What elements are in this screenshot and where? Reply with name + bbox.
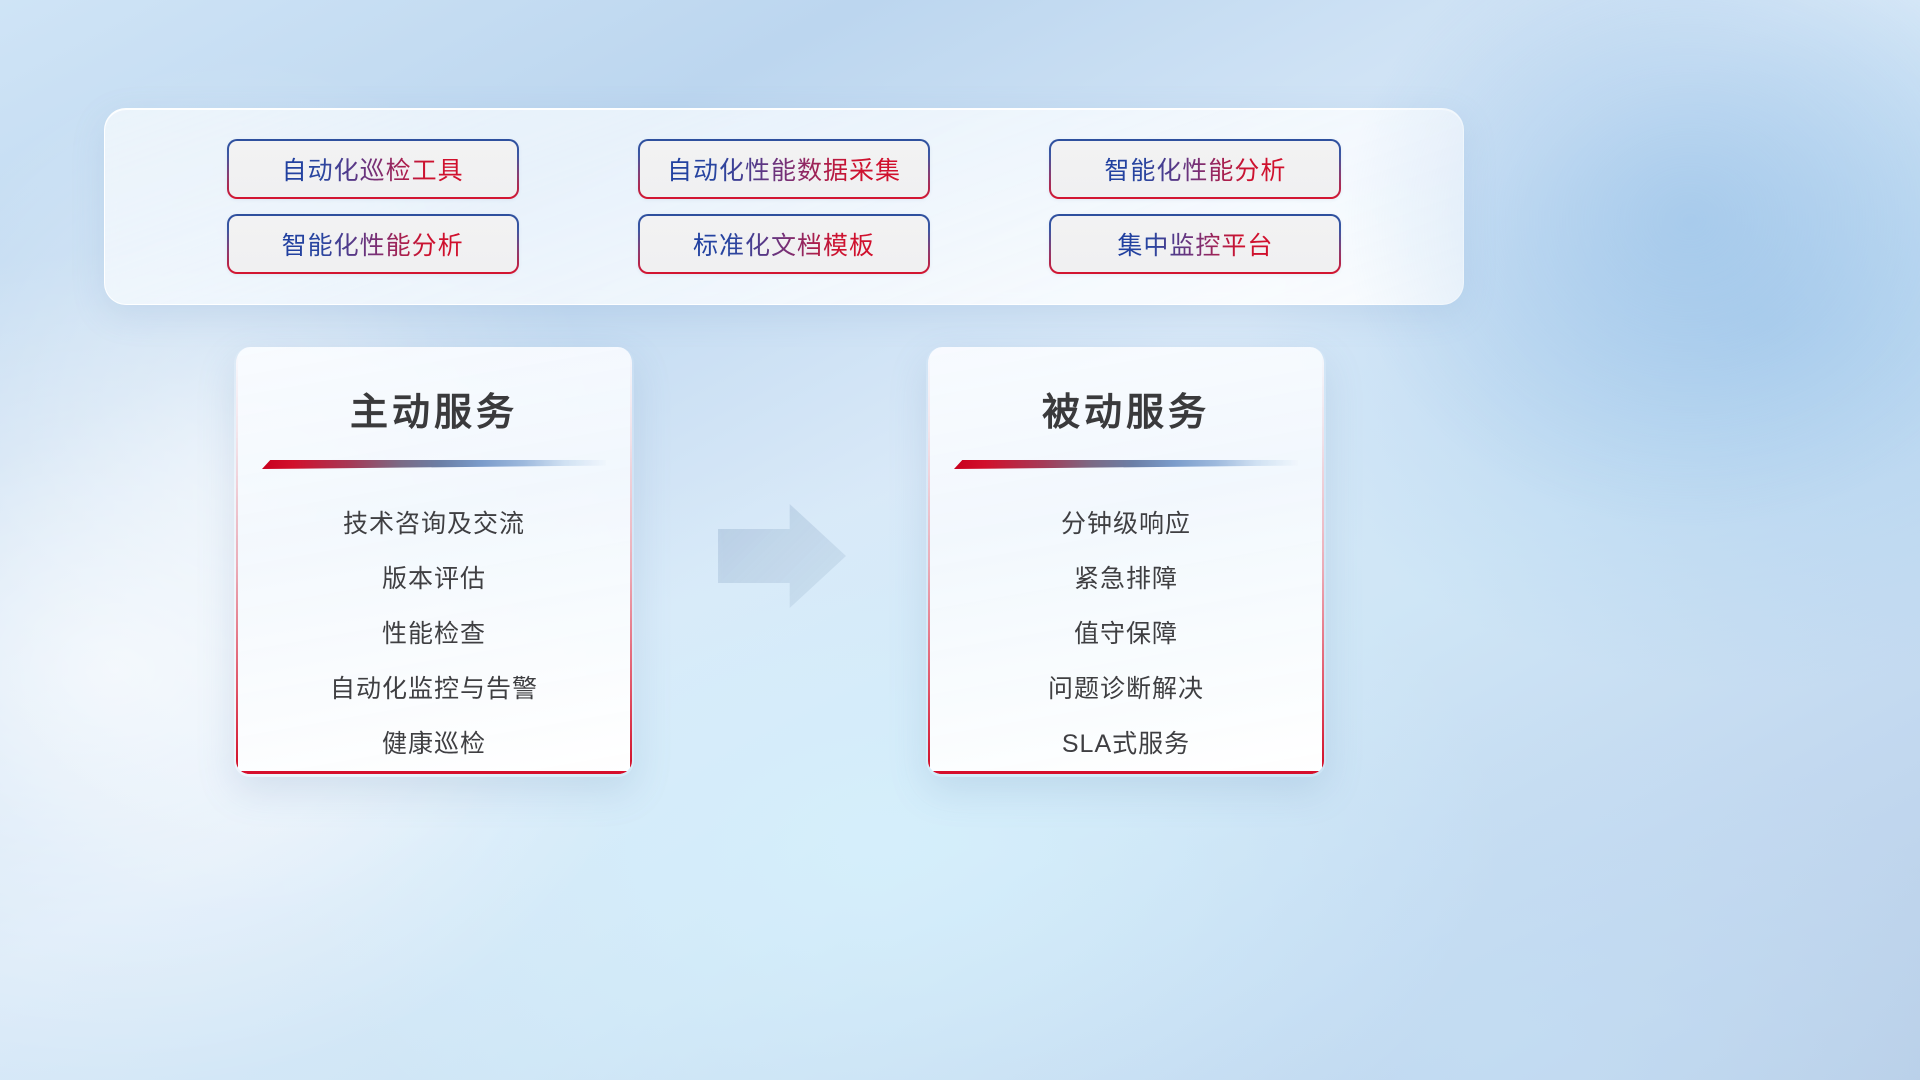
capability-chip-intelligent-performance-analysis-2[interactable]: 智能化性能分析 xyxy=(227,214,519,274)
list-item: 技术咨询及交流 xyxy=(236,497,632,552)
capability-chip-centralized-monitoring-platform[interactable]: 集中监控平台 xyxy=(1049,214,1341,274)
service-card-title: 主动服务 xyxy=(236,381,632,436)
capabilities-panel: 自动化巡检工具 自动化性能数据采集 智能化性能分析 智能化性能分析 标准化文档模… xyxy=(104,108,1464,305)
service-card-reactive[interactable]: 被动服务 分钟级响应 紧急排障 值守保障 问题诊断解决 SLA式服务 xyxy=(926,347,1326,777)
list-item: 紧急排障 xyxy=(928,552,1324,607)
right-arrow-icon xyxy=(718,504,846,608)
capability-chip-label: 标准化文档模板 xyxy=(693,226,875,262)
list-item: 值守保障 xyxy=(928,607,1324,662)
service-card-title: 被动服务 xyxy=(928,381,1324,436)
divider-bar xyxy=(954,460,1298,469)
capability-chip-intelligent-performance-analysis[interactable]: 智能化性能分析 xyxy=(1049,139,1341,199)
list-item: 版本评估 xyxy=(236,552,632,607)
capability-chip-automated-inspection-tool[interactable]: 自动化巡检工具 xyxy=(227,139,519,199)
list-item: 分钟级响应 xyxy=(928,497,1324,552)
list-item: 性能检查 xyxy=(236,607,632,662)
capability-chip-label: 自动化巡检工具 xyxy=(282,151,464,187)
capability-chip-label: 集中监控平台 xyxy=(1117,226,1273,262)
service-card-proactive[interactable]: 主动服务 技术咨询及交流 版本评估 性能检查 自动化监控与告警 健康巡检 xyxy=(234,347,634,777)
title-divider xyxy=(954,460,1298,469)
capability-chip-standard-document-template[interactable]: 标准化文档模板 xyxy=(638,214,930,274)
title-divider xyxy=(262,460,606,469)
capability-chip-automated-performance-collection[interactable]: 自动化性能数据采集 xyxy=(638,139,930,199)
list-item: 自动化监控与告警 xyxy=(236,662,632,717)
divider-bar xyxy=(262,460,606,469)
list-item: 问题诊断解决 xyxy=(928,662,1324,717)
list-item: SLA式服务 xyxy=(928,717,1324,772)
capability-chip-label: 自动化性能数据采集 xyxy=(667,151,901,187)
capability-chip-label: 智能化性能分析 xyxy=(282,226,464,262)
capability-chip-label: 智能化性能分析 xyxy=(1104,151,1286,187)
slide-canvas: 自动化巡检工具 自动化性能数据采集 智能化性能分析 智能化性能分析 标准化文档模… xyxy=(0,0,1920,1080)
service-item-list: 分钟级响应 紧急排障 值守保障 问题诊断解决 SLA式服务 xyxy=(928,497,1324,772)
list-item: 健康巡检 xyxy=(236,717,632,772)
service-item-list: 技术咨询及交流 版本评估 性能检查 自动化监控与告警 健康巡检 xyxy=(236,497,632,772)
